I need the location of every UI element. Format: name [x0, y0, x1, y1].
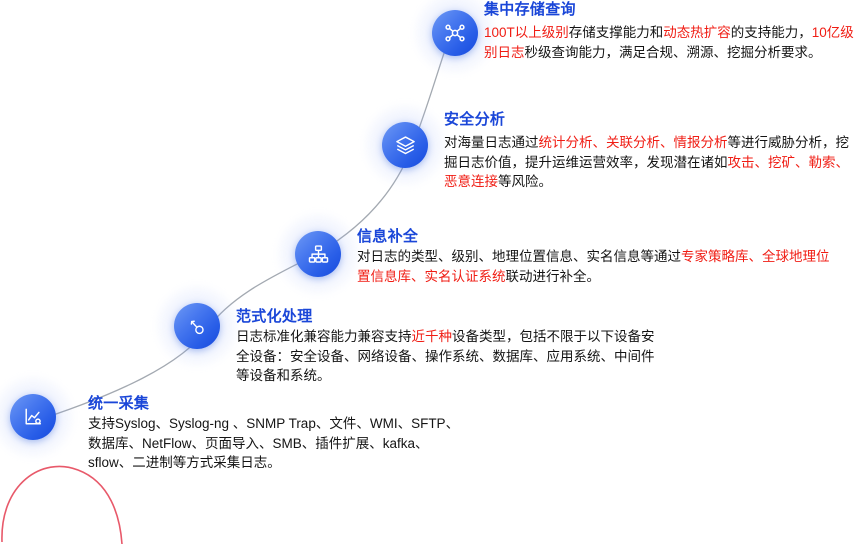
line-chart-icon [10, 394, 56, 440]
stage-title: 安全分析 [444, 110, 856, 130]
layers-stack-icon [382, 122, 428, 168]
highlighted-term: 统计分析、关联分析、情报分析 [539, 135, 728, 150]
body-text-run: 日志标准化兼容能力兼容支持 [236, 329, 412, 344]
stage-body: 支持Syslog、Syslog-ng 、SNMP Trap、文件、WMI、SFT… [88, 414, 468, 473]
stage-text-centralized-storage-query: 集中存储查询 100T以上级别存储支撑能力和动态热扩容的支持能力，10亿级别日志… [484, 0, 856, 62]
stage-title: 集中存储查询 [484, 0, 856, 20]
body-text-run: 联动进行补全。 [506, 269, 601, 284]
stage-title: 范式化处理 [236, 307, 666, 327]
key-icon [174, 303, 220, 349]
stage-text-security-analysis: 安全分析 对海量日志通过统计分析、关联分析、情报分析等进行威胁分析，挖掘日志价值… [444, 110, 856, 192]
stage-text-unified-collection: 统一采集 支持Syslog、Syslog-ng 、SNMP Trap、文件、WM… [88, 394, 468, 473]
body-text-run: 秒级查询能力，满足合规、溯源、挖掘分析要求。 [525, 45, 822, 60]
highlighted-term: 动态热扩容 [663, 25, 731, 40]
stage-body: 日志标准化兼容能力兼容支持近千种设备类型，包括不限于以下设备安全设备：安全设备、… [236, 327, 666, 386]
body-text-run: 存储支撑能力和 [569, 25, 664, 40]
stage-text-normalization-processing: 范式化处理 日志标准化兼容能力兼容支持近千种设备类型，包括不限于以下设备安全设备… [236, 307, 666, 386]
stage-body: 对海量日志通过统计分析、关联分析、情报分析等进行威胁分析，挖掘日志价值，提升运维… [444, 133, 856, 192]
body-text-run: 的支持能力， [731, 25, 812, 40]
highlighted-term: 近千种 [412, 329, 453, 344]
body-text-run: 等风险。 [498, 174, 552, 189]
stage-title: 统一采集 [88, 394, 468, 414]
network-nodes-icon [432, 10, 478, 56]
body-text-run: 对日志的类型、级别、地理位置信息、实名信息等通过 [357, 249, 681, 264]
body-text-run: 支持Syslog、Syslog-ng 、SNMP Trap、文件、WMI、SFT… [88, 416, 459, 470]
stage-body: 100T以上级别存储支撑能力和动态热扩容的支持能力，10亿级别日志秒级查询能力，… [484, 23, 856, 62]
stage-text-information-enrichment: 信息补全 对日志的类型、级别、地理位置信息、实名信息等通过专家策略库、全球地理位… [357, 227, 831, 286]
highlighted-term: 100T以上级别 [484, 25, 569, 40]
stage-title: 信息补全 [357, 227, 831, 247]
hierarchy-sitemap-icon [295, 231, 341, 277]
body-text-run: 对海量日志通过 [444, 135, 539, 150]
capability-flow-diagram: 集中存储查询 100T以上级别存储支撑能力和动态热扩容的支持能力，10亿级别日志… [0, 0, 864, 466]
stage-body: 对日志的类型、级别、地理位置信息、实名信息等通过专家策略库、全球地理位置信息库、… [357, 247, 831, 286]
